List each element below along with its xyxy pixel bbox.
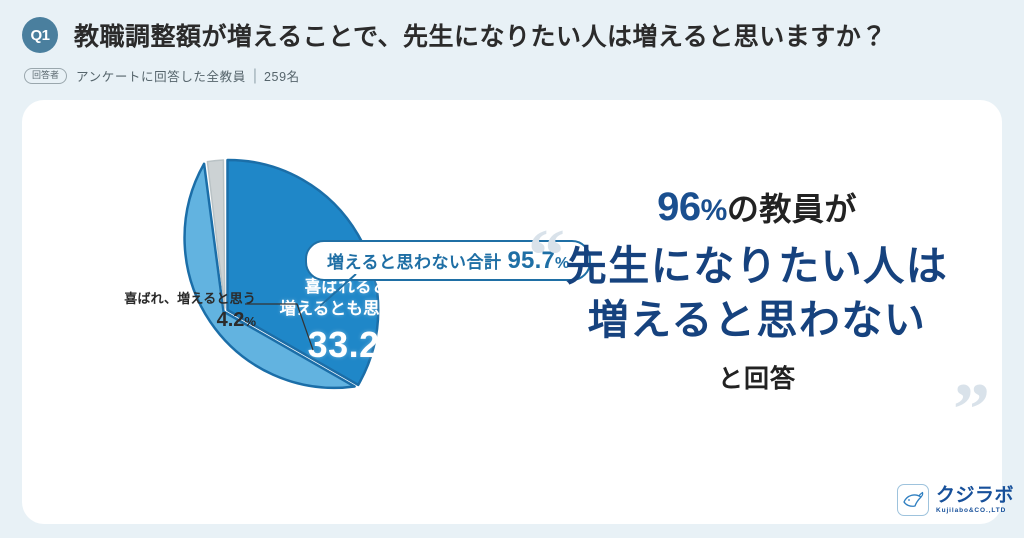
slice-label-name-line1: 喜ばれるが、 xyxy=(105,380,320,402)
slice-value-gray: 4.2% xyxy=(96,309,256,332)
respondent-row: 回答者 アンケートに回答した全教員 | 259名 xyxy=(24,66,300,85)
respondent-count: 259名 xyxy=(264,66,300,85)
quote-close-icon: ” xyxy=(953,373,990,447)
logo-text: クジラボ Kujilabo&CO.,LTD xyxy=(936,486,1014,515)
slice-label-name-line2: 増えるとは思わない xyxy=(105,402,320,424)
slice-value-light-blue: 62.5% xyxy=(105,428,320,469)
slice-label-name-gray: 喜ばれ、増えると思う xyxy=(96,288,256,307)
callout-tail xyxy=(314,274,364,308)
summary-lead: 96%の教員が xyxy=(522,185,992,229)
infographic-page: Q1 教職調整額が増えることで、先生になりたい人は増えると思いますか？ 回答者 … xyxy=(0,0,1024,538)
slice-label-light-blue: 喜ばれるが、 増えるとは思わない 62.5% xyxy=(105,380,320,469)
question-row: Q1 教職調整額が増えることで、先生になりたい人は増えると思いますか？ xyxy=(22,17,887,53)
header: Q1 教職調整額が増えることで、先生になりたい人は増えると思いますか？ 回答者 … xyxy=(0,0,1024,100)
respondent-separator: | xyxy=(253,67,257,85)
brand-logo[interactable]: クジラボ Kujilabo&CO.,LTD xyxy=(897,484,1014,516)
page-title: 教職調整額が増えることで、先生になりたい人は増えると思いますか？ xyxy=(74,17,887,53)
leader-line-gray xyxy=(245,298,325,354)
slice-label-gray: 喜ばれ、増えると思う 4.2% xyxy=(96,288,256,332)
respondent-description: アンケートに回答した全教員 xyxy=(76,66,246,85)
quote-open-icon: “ xyxy=(528,219,565,293)
logo-name-en: Kujilabo&CO.,LTD xyxy=(936,508,1014,515)
summary-emphasis-line2: 増えると思わない xyxy=(522,293,992,347)
pie-chart: 喜ばれるとも 増えるとも思わない 33.2% 喜ばれるが、 増えるとは思わない … xyxy=(60,148,390,478)
content-card: 喜ばれるとも 増えるとも思わない 33.2% 喜ばれるが、 増えるとは思わない … xyxy=(22,100,1002,524)
callout-text: 増えると思わない合計 xyxy=(327,248,502,273)
summary-panel: “ ” 96%の教員が 先生になりたい人は 増えると思わない と回答 xyxy=(522,185,992,475)
summary-closing: と回答 xyxy=(522,359,992,395)
summary-percentage: 96% xyxy=(657,185,727,229)
whale-icon xyxy=(897,484,929,516)
summary-lead-suffix: の教員が xyxy=(727,191,857,227)
logo-name-jp: クジラボ xyxy=(936,486,1014,505)
question-number-badge: Q1 xyxy=(22,17,58,53)
summary-emphasis-line1: 先生になりたい人は xyxy=(522,239,992,293)
respondent-label-pill: 回答者 xyxy=(24,68,67,84)
